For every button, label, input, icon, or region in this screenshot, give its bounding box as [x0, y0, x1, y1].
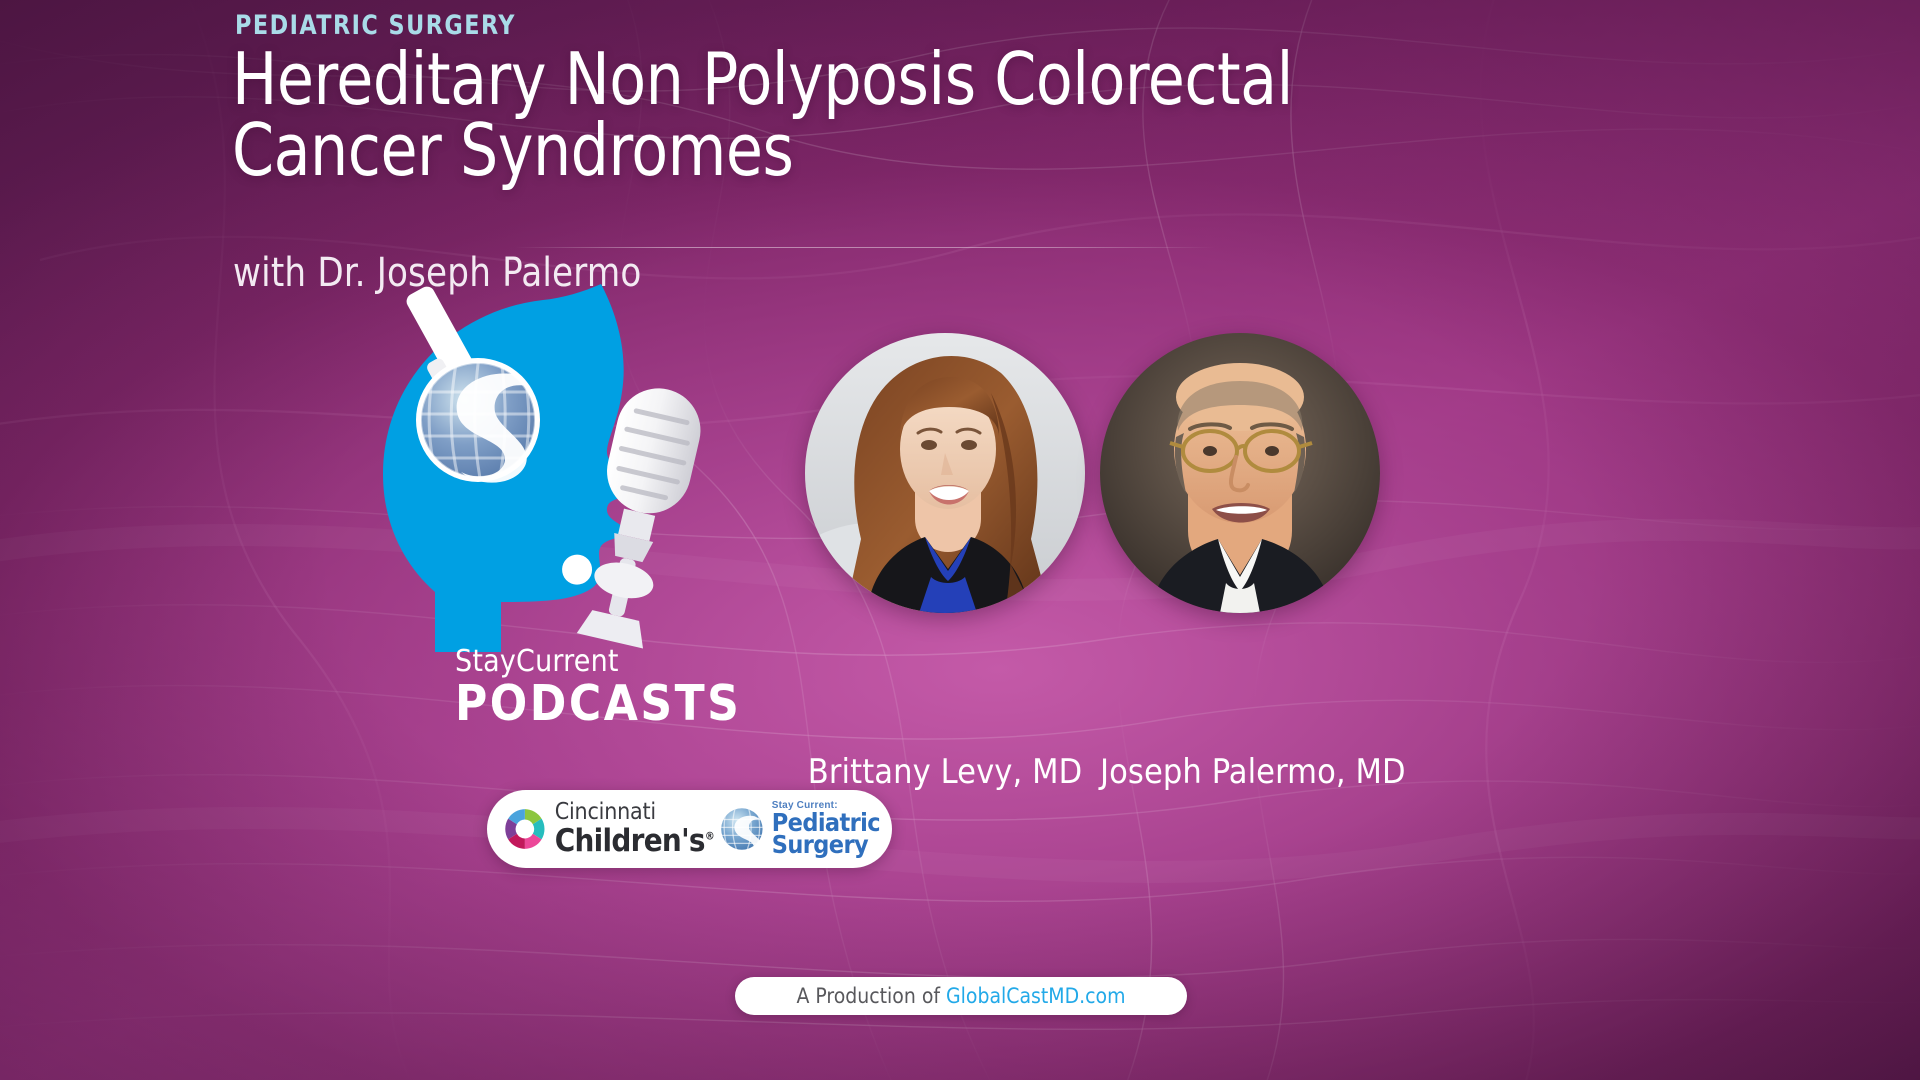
production-credit-prefix: A Production of	[796, 984, 940, 1008]
portrait-brittany-levy	[805, 333, 1085, 613]
podcast-caption-top: StayCurrent	[455, 644, 735, 679]
title-line-2: Cancer Syndromes	[232, 115, 1441, 186]
registered-mark-icon: ®	[705, 830, 714, 843]
speaker-name-0: Brittany Levy, MD	[805, 752, 1085, 792]
cincinnati-childrens-wordmark: Cincinnati Children's®	[555, 801, 714, 857]
speaker-name-1: Joseph Palermo, MD	[1100, 752, 1380, 792]
badge-line-2: Children's®	[555, 826, 714, 857]
cincinnati-childrens-badge: Cincinnati Children's® Stay Current: Ped…	[487, 790, 892, 868]
production-credit-pill[interactable]: A Production of GlobalCastMD.com	[735, 977, 1187, 1015]
staycurrent-podcasts-logo	[375, 262, 775, 652]
page-title: Hereditary Non Polyposis Colorectal Canc…	[232, 44, 1441, 185]
pediatric-surgery-wordmark: Stay Current: Pediatric Surgery	[772, 801, 880, 856]
podcast-title-slide: PEDIATRIC SURGERY Hereditary Non Polypos…	[0, 0, 1920, 1080]
production-credit-brand[interactable]: GlobalCastMD.com	[946, 984, 1126, 1008]
podcast-logo-caption: StayCurrent PODCASTS	[455, 644, 735, 728]
cincinnati-childrens-pinwheel-icon	[501, 799, 549, 859]
podcast-caption-main: PODCASTS	[455, 679, 735, 728]
badge-ps-line-2: Surgery	[772, 833, 880, 857]
portrait-joseph-palermo	[1100, 333, 1380, 613]
stay-current-globe-icon	[718, 799, 766, 859]
badge-line-1: Cincinnati	[555, 801, 714, 824]
title-divider	[515, 247, 1215, 248]
